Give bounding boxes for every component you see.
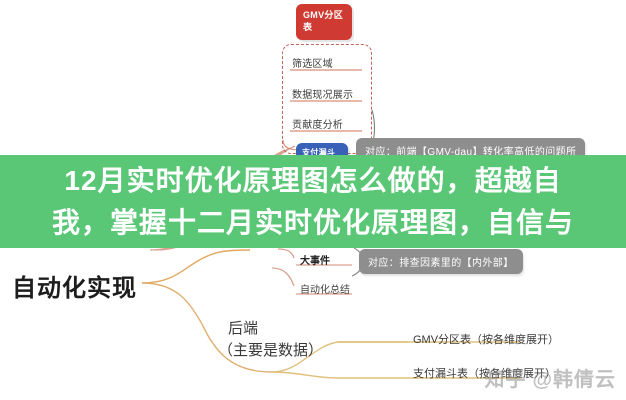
watermark: 知乎 @韩倩云 bbox=[484, 363, 616, 392]
leaf-contribution-analysis[interactable]: 贡献度分析 bbox=[292, 116, 343, 131]
label-big-event[interactable]: 大事件 bbox=[300, 252, 330, 267]
label-backend-line1: 后端 bbox=[228, 320, 258, 337]
watermark-handle: @韩倩云 bbox=[532, 363, 616, 392]
leaf-data-status-display[interactable]: 数据现况展示 bbox=[292, 86, 353, 101]
zhihu-logo-icon: 知乎 bbox=[484, 363, 526, 392]
label-gmv-by-dimension[interactable]: GMV分区表（按各维度展开） bbox=[413, 331, 559, 347]
leaf-filter-region[interactable]: 筛选区域 bbox=[292, 55, 333, 70]
label-backend-line2: （主要是数据） bbox=[218, 340, 323, 362]
node-gmv-table[interactable]: GMV分区表 bbox=[296, 4, 352, 40]
label-backend: 后端 （主要是数据） bbox=[228, 318, 323, 362]
heading-automation-implementation: 自动化实现 bbox=[12, 268, 137, 303]
title-line-1: 12月实时优化原理图怎么做的，超越自 bbox=[64, 160, 561, 202]
title-banner: 12月实时优化原理图怎么做的，超越自 我，掌握十二月实时优化原理图，自信与 bbox=[0, 155, 626, 248]
tooltip-inner-outer: 对应：排查因素里的【内外部】 bbox=[359, 249, 523, 274]
title-line-2: 我，掌握十二月实时优化原理图，自信与 bbox=[52, 202, 574, 244]
label-automation-summary[interactable]: 自动化总结 bbox=[300, 281, 350, 296]
screenshot-root: GMV分区表 支付漏斗表 筛选区域 数据现况展示 贡献度分析 前端 大事件 自动… bbox=[0, 0, 626, 400]
node-gmv-table-label: GMV分区表 bbox=[303, 10, 343, 32]
